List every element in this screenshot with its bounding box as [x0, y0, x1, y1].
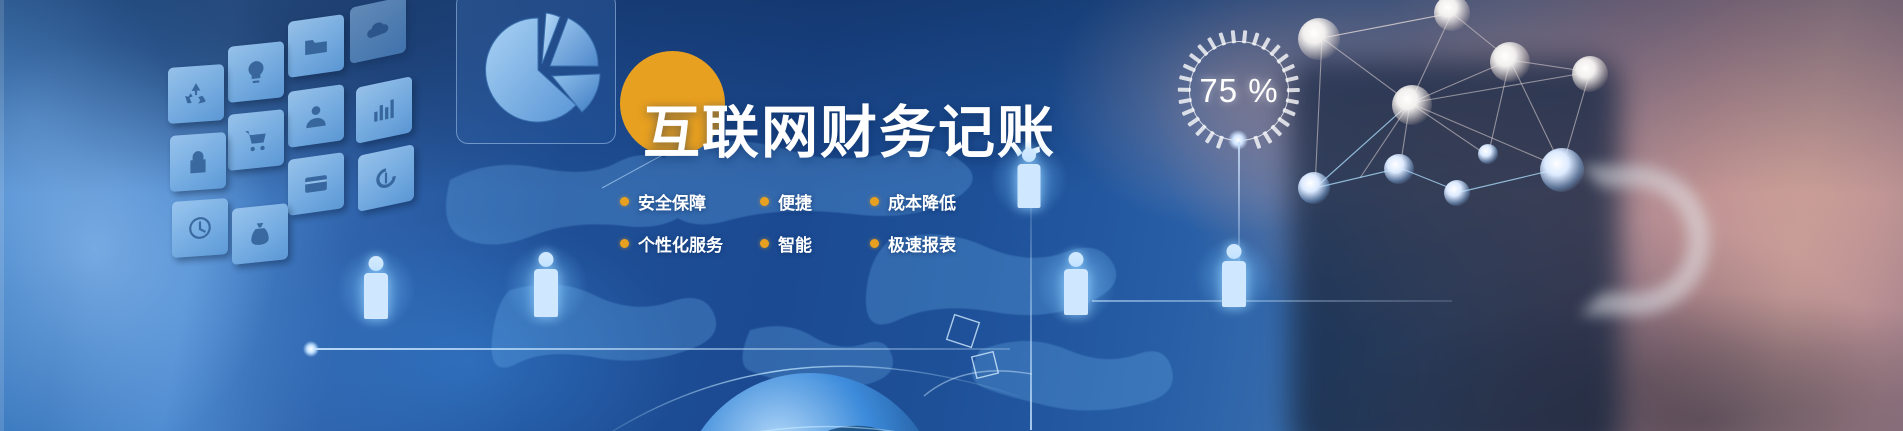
lightbulb-icon	[228, 41, 284, 103]
connector-line	[1092, 300, 1452, 302]
square-accents	[920, 300, 1040, 410]
network-node	[1384, 154, 1414, 184]
network-node	[1298, 172, 1330, 204]
person-pictogram	[528, 252, 564, 320]
money-bag-icon	[232, 203, 288, 265]
feature-item[interactable]: 成本降低	[870, 189, 1000, 214]
feature-row: 安全保障 便捷 成本降低	[620, 180, 1020, 222]
feature-list: 安全保障 便捷 成本降低 个性化服务 智能 极速报表	[620, 180, 1020, 264]
bullet-icon	[760, 197, 769, 206]
network-node	[1444, 180, 1470, 206]
network-node	[1540, 148, 1584, 192]
feature-label: 智能	[778, 231, 812, 256]
feature-label: 便捷	[778, 189, 812, 214]
shopping-cart-icon	[228, 109, 284, 171]
person-pictogram	[358, 256, 394, 322]
feature-label: 个性化服务	[638, 231, 723, 256]
recycle-icon	[168, 64, 224, 124]
lock-icon	[170, 132, 226, 192]
bullet-icon	[870, 197, 879, 206]
app-icon-cube-grid	[160, 0, 420, 230]
feature-item[interactable]: 安全保障	[620, 189, 760, 214]
feature-label: 成本降低	[888, 189, 956, 214]
folder-icon	[288, 14, 344, 78]
feature-label: 安全保障	[638, 189, 706, 214]
feature-label: 极速报表	[888, 231, 956, 256]
page-title: 互联网财务记账	[643, 103, 1056, 163]
network-graph	[1300, 0, 1640, 210]
bullet-icon	[760, 239, 769, 248]
bar-chart-icon	[356, 76, 412, 144]
feature-item[interactable]: 个性化服务	[620, 231, 760, 256]
network-node	[1572, 56, 1608, 92]
bullet-icon	[870, 239, 879, 248]
bullet-icon	[620, 239, 629, 248]
user-icon	[288, 84, 344, 148]
connector-line	[310, 348, 1010, 350]
network-node	[1490, 42, 1530, 82]
feature-item[interactable]: 智能	[760, 231, 870, 256]
progress-gauge: 75 %	[1178, 30, 1300, 152]
credit-card-icon	[288, 152, 344, 216]
banner-root: 互联网财务记账 安全保障 便捷 成本降低 个性化服务 智能	[0, 0, 1903, 431]
person-pictogram	[1012, 148, 1046, 210]
cloud-icon	[350, 0, 406, 64]
feature-item[interactable]: 极速报表	[870, 231, 1000, 256]
network-node	[1298, 18, 1340, 60]
pie-chart	[472, 4, 604, 132]
connector-dot	[303, 341, 319, 357]
network-node	[1392, 85, 1432, 125]
person-pictogram	[1058, 252, 1094, 318]
refresh-dollar-icon	[358, 144, 414, 212]
network-node	[1478, 144, 1498, 164]
feature-row: 个性化服务 智能 极速报表	[620, 222, 1020, 264]
clock-icon	[172, 198, 228, 258]
feature-item[interactable]: 便捷	[760, 189, 870, 214]
bullet-icon	[620, 197, 629, 206]
